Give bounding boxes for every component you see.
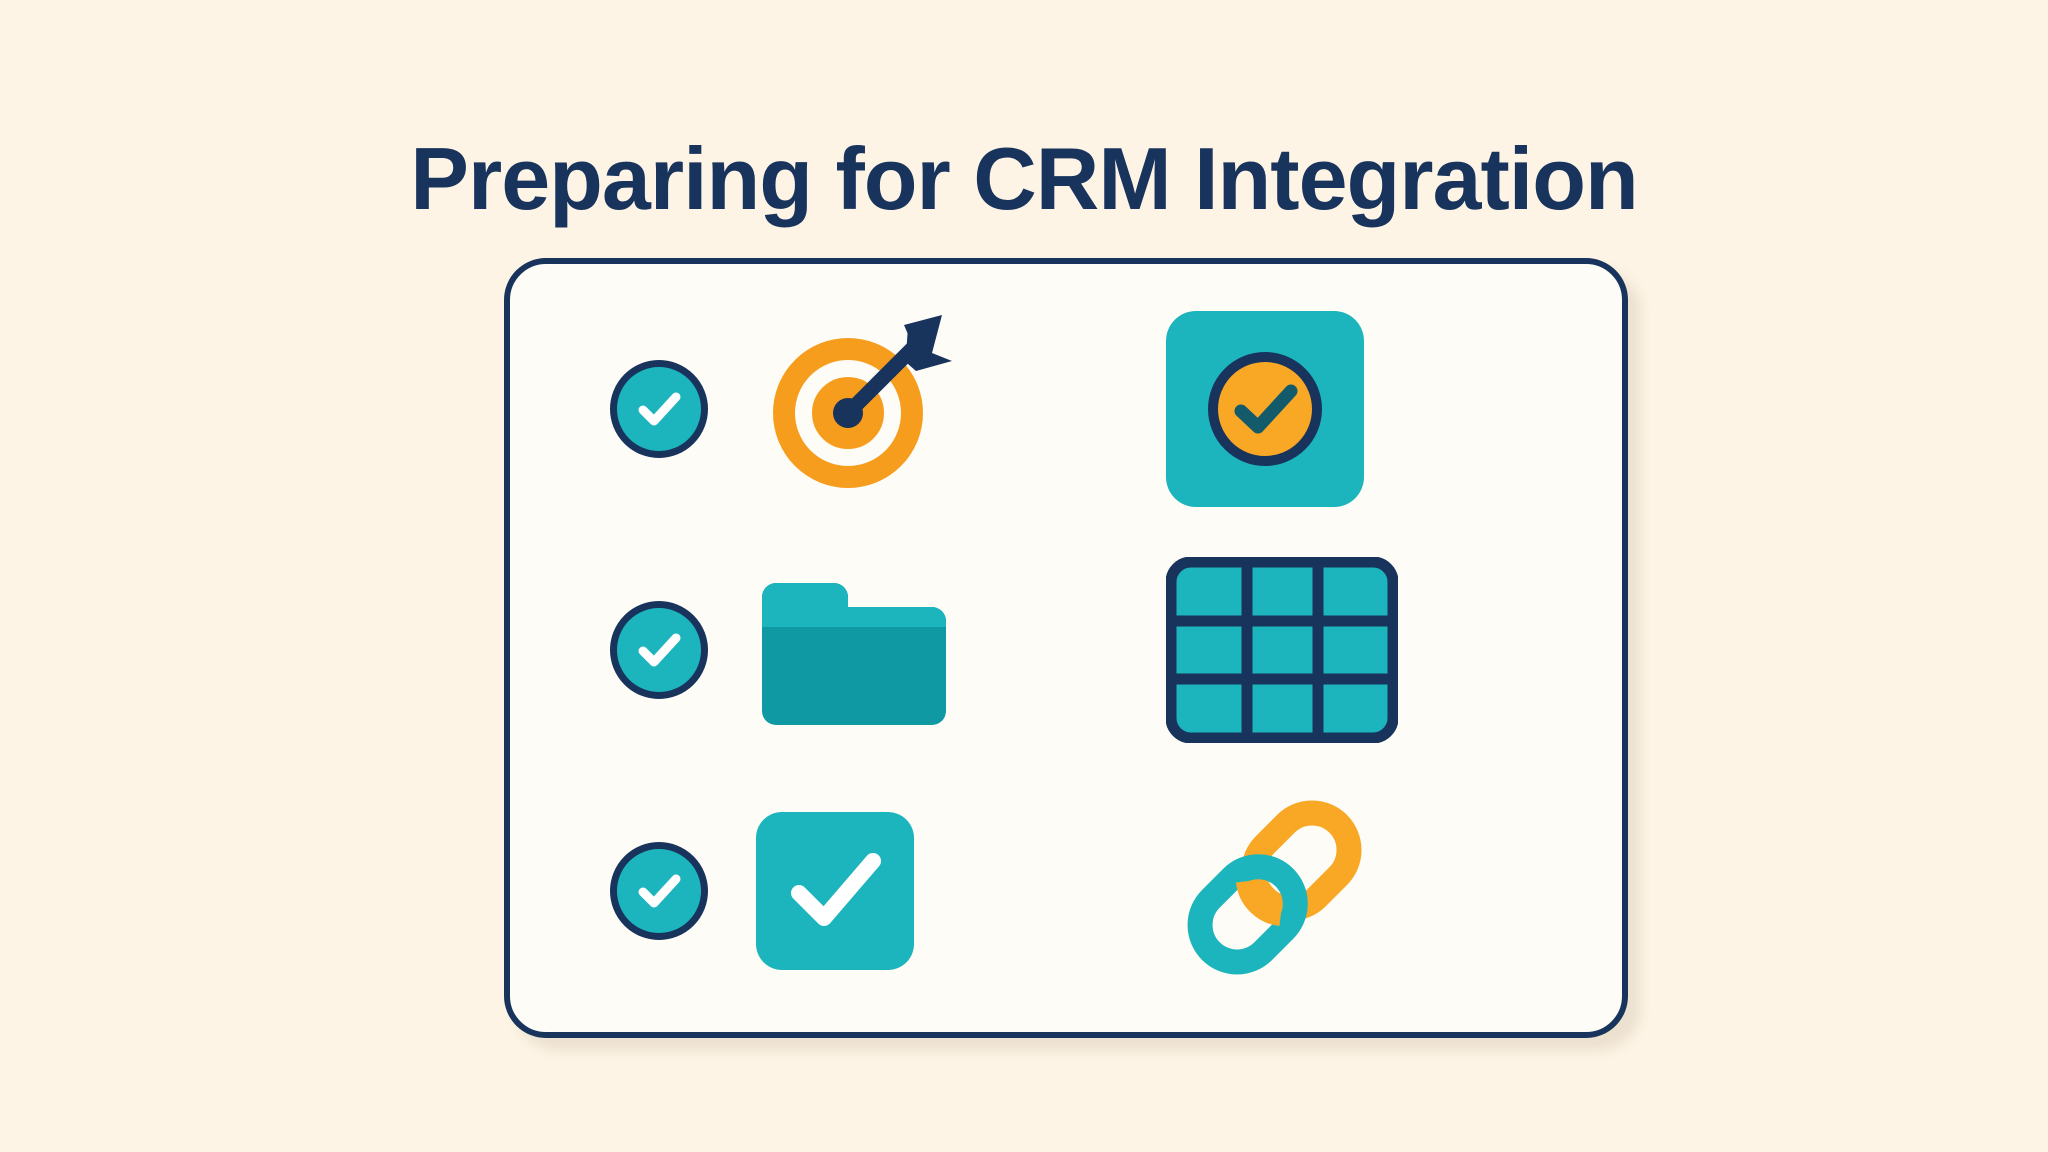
checklist-icon-grid (504, 258, 1628, 1038)
page-title: Preparing for CRM Integration (0, 131, 2048, 228)
verified-badge-icon[interactable] (1166, 311, 1364, 507)
chain-link-icon[interactable] (1166, 796, 1376, 986)
checklist-row-2-right (1066, 529, 1588, 770)
check-circle-icon[interactable] (610, 601, 708, 699)
check-circle-icon[interactable] (610, 360, 708, 458)
check-circle-icon[interactable] (610, 842, 708, 940)
checklist-row-2-left (544, 529, 1066, 770)
check-square-icon[interactable] (756, 812, 914, 970)
checklist-row-3-right (1066, 771, 1588, 1012)
checklist-row-1-left (544, 288, 1066, 529)
table-grid-icon[interactable] (1166, 557, 1398, 743)
checklist-row-3-left (544, 771, 1066, 1012)
folder-icon[interactable] (756, 575, 946, 725)
target-bullseye-icon[interactable] (756, 309, 956, 509)
checklist-row-1-right (1066, 288, 1588, 529)
